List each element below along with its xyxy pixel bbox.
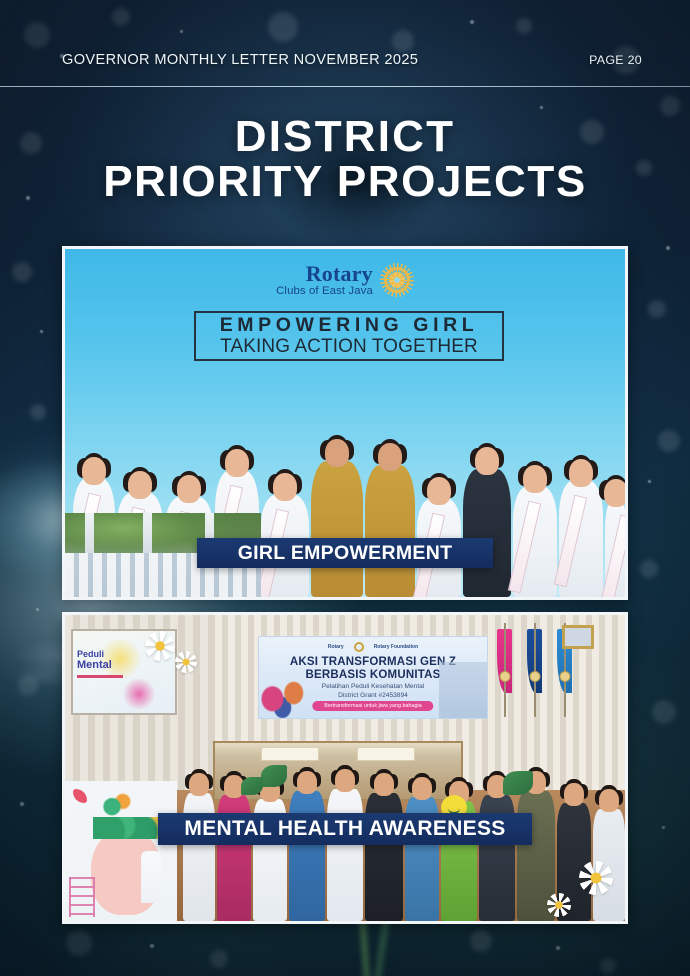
plant-decor <box>241 777 263 795</box>
page-number-label: PAGE 20 <box>589 53 642 67</box>
rotary-name: Rotary <box>276 262 373 285</box>
banner-people-illustration <box>439 662 487 718</box>
banner-logo-left-label: Rotary <box>328 644 344 650</box>
banner-pill-text: Bertransformasi untuk jiwa yang bahagia <box>312 701 433 711</box>
mental-health-photo: Peduli Mental Rotary Rotary Foundation A… <box>65 615 625 921</box>
banner-logo-right-label: Rotary Foundation <box>374 644 418 650</box>
screen-text-line1: Peduli <box>77 649 104 659</box>
project-card-girl-empowerment[interactable]: Rotary Clubs of East Java EMPOWERING GIR… <box>62 246 628 600</box>
daisy-flower-icon <box>145 631 175 661</box>
project-card-mental-health[interactable]: Peduli Mental Rotary Rotary Foundation A… <box>62 612 628 924</box>
header-divider <box>0 86 690 87</box>
daisy-flower-icon <box>579 861 613 895</box>
wall-portrait-frame <box>562 625 594 649</box>
banner-logo-row: Rotary Rotary Foundation <box>259 641 487 653</box>
card1-caption-band: GIRL EMPOWERMENT <box>197 538 493 568</box>
plant-decor <box>503 771 533 795</box>
flag-navy <box>527 629 542 705</box>
rotary-wheel-icon <box>380 263 414 297</box>
rotary-logo-text: Rotary Clubs of East Java <box>276 262 373 298</box>
rotary-club-subtitle: Clubs of East Java <box>276 286 373 298</box>
daisy-flower-icon <box>175 651 197 673</box>
heart-icon <box>73 789 87 803</box>
plant-decor <box>261 765 287 787</box>
event-backdrop-banner: Rotary Rotary Foundation AKSI TRANSFORMA… <box>258 636 488 719</box>
page-title: DISTRICT PRIORITY PROJECTS <box>0 114 690 205</box>
page-title-line2: PRIORITY PROJECTS <box>0 159 690 204</box>
newsletter-page: GOVERNOR MONTHLY LETTER NOVEMBER 2025 PA… <box>0 0 690 976</box>
sprout-icon <box>103 791 133 817</box>
page-header: GOVERNOR MONTHLY LETTER NOVEMBER 2025 PA… <box>0 52 690 88</box>
girl-empowerment-photo: Rotary Clubs of East Java EMPOWERING GIR… <box>65 249 625 597</box>
poster-slogan-box: EMPOWERING GIRL TAKING ACTION TOGETHER <box>194 311 504 361</box>
mental-health-illustration <box>65 781 177 921</box>
daisy-flower-icon <box>547 893 571 917</box>
flag-pink <box>497 629 512 705</box>
banner-rotary-wheel-icon <box>354 642 364 652</box>
screen-text-line2: Mental <box>77 659 112 671</box>
banner-dancer-illustration <box>259 670 315 718</box>
header-title: GOVERNOR MONTHLY LETTER NOVEMBER 2025 <box>62 52 418 68</box>
rotary-logo-block: Rotary Clubs of East Java <box>65 257 625 303</box>
poster-slogan-line2: TAKING ACTION TOGETHER <box>220 337 478 356</box>
page-title-line1: DISTRICT <box>0 114 690 159</box>
poster-slogan-line1: EMPOWERING GIRL <box>220 316 479 336</box>
card2-caption-band: MENTAL HEALTH AWARENESS <box>158 813 532 845</box>
